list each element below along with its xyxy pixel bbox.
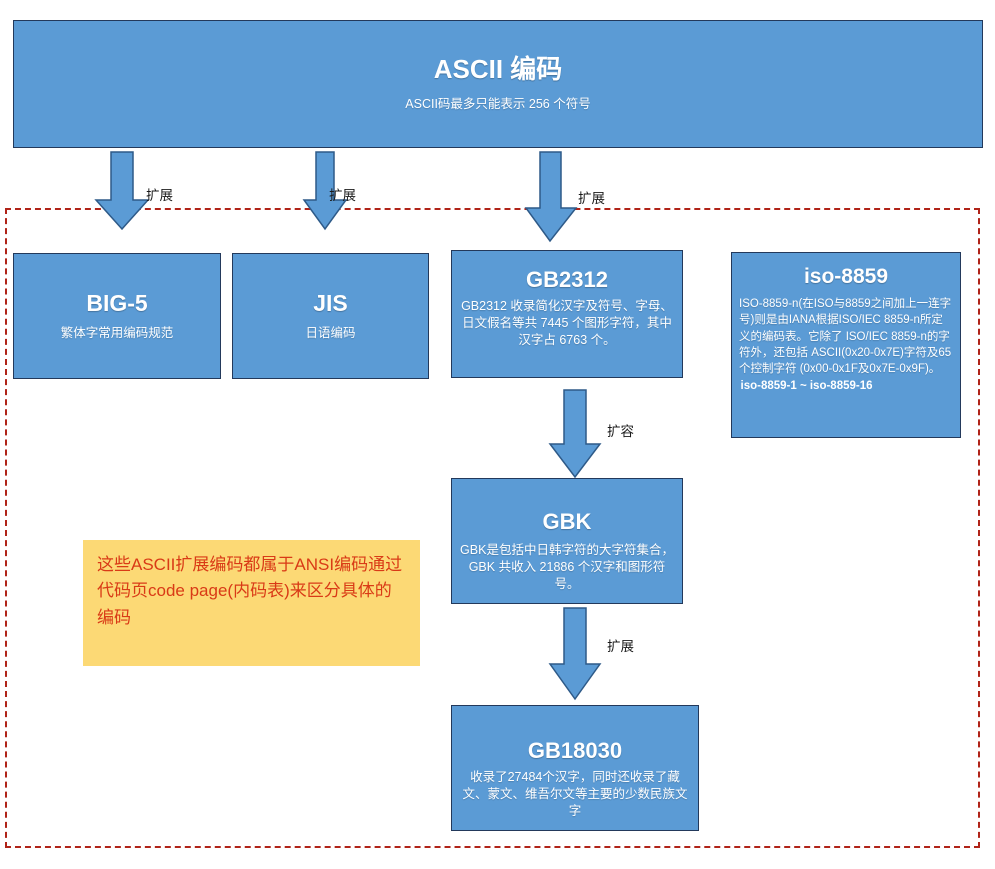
arrow-gb2312-to-gbk: [549, 390, 601, 478]
diagram-canvas: ASCII 编码 ASCII码最多只能表示 256 个符号 扩展 扩展 扩展 B…: [0, 0, 995, 869]
arrow-ascii-to-gb2312: [525, 152, 577, 242]
arrow-label-gbk-to-gb18030: 扩展: [607, 635, 634, 655]
arrow-label-ascii-to-big5: 扩展: [146, 184, 173, 204]
node-gbk-title: GBK: [543, 509, 592, 534]
arrow-gbk-to-gb18030: [549, 608, 601, 700]
node-gbk[interactable]: GBK GBK是包括中日韩字符的大字符集合，GBK 共收入 21886 个汉字和…: [451, 478, 683, 604]
node-jis-title: JIS: [313, 290, 348, 316]
node-ascii-title: ASCII 编码: [434, 55, 563, 85]
node-gb18030-title: GB18030: [528, 738, 622, 763]
node-gb2312-title: GB2312: [526, 267, 608, 292]
node-ascii[interactable]: ASCII 编码 ASCII码最多只能表示 256 个符号: [13, 20, 983, 148]
node-ascii-desc: ASCII码最多只能表示 256 个符号: [405, 96, 590, 113]
arrow-label-gb2312-to-gbk: 扩容: [607, 420, 634, 440]
node-gb2312-desc: GB2312 收录简化汉字及符号、字母、日文假名等共 7445 个图形字符，其中…: [460, 298, 674, 349]
arrow-label-ascii-to-gb2312: 扩展: [578, 187, 605, 207]
node-big5-desc: 繁体字常用编码规范: [61, 325, 174, 342]
node-gb18030[interactable]: GB18030 收录了27484个汉字，同时还收录了藏文、蒙文、维吾尔文等主要的…: [451, 705, 699, 831]
node-gb18030-desc: 收录了27484个汉字，同时还收录了藏文、蒙文、维吾尔文等主要的少数民族文字: [460, 769, 690, 820]
note-ansi-codepage: 这些ASCII扩展编码都属于ANSI编码通过代码页code page(内码表)来…: [83, 540, 420, 666]
node-big5[interactable]: BIG-5 繁体字常用编码规范: [13, 253, 221, 379]
node-gbk-desc: GBK是包括中日韩字符的大字符集合，GBK 共收入 21886 个汉字和图形符号…: [460, 542, 674, 593]
node-iso-8859-title: iso-8859: [804, 265, 888, 289]
node-jis[interactable]: JIS 日语编码: [232, 253, 429, 379]
node-iso-8859[interactable]: iso-8859 ISO-8859-n(在ISO与8859之间加上一连字号)则是…: [731, 252, 961, 438]
arrow-label-ascii-to-jis: 扩展: [329, 184, 356, 204]
arrow-ascii-to-big5: [95, 152, 149, 230]
node-gb2312[interactable]: GB2312 GB2312 收录简化汉字及符号、字母、日文假名等共 7445 个…: [451, 250, 683, 378]
node-jis-desc: 日语编码: [305, 325, 355, 342]
node-iso-8859-desc: ISO-8859-n(在ISO与8859之间加上一连字号)则是由IANA根据IS…: [739, 296, 953, 378]
node-big5-title: BIG-5: [86, 290, 147, 316]
node-iso-8859-range: iso-8859-1 ~ iso-8859-16: [738, 380, 955, 392]
